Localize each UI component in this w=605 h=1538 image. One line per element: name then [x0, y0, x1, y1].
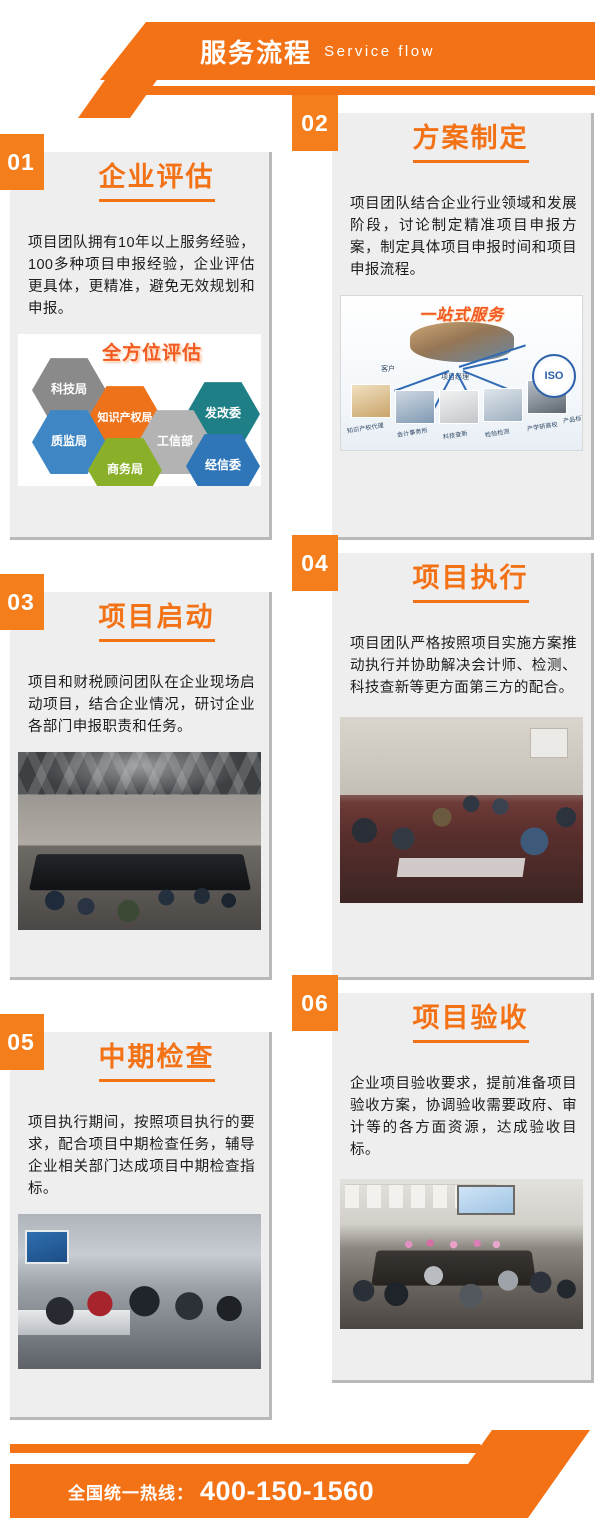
card-06-media	[340, 1179, 583, 1329]
card-03-badge: 03	[0, 574, 44, 630]
onestop-caption-5: 产学研高校	[526, 419, 558, 433]
hex-node-shangwu-label: 商务局	[107, 463, 143, 477]
onestop-iso-seal: ISO	[532, 354, 576, 398]
card-02-title-rule	[413, 160, 529, 163]
photo-working-meeting	[340, 717, 583, 903]
card-06[interactable]: 06 项目验收 企业项目验收要求，提前准备项目验收方案，协调验收需要政府、审计等…	[332, 993, 594, 1383]
onestop-caption-3: 科技查新	[442, 428, 468, 441]
card-02[interactable]: 02 方案制定 项目团队结合企业行业领域和发展阶段，讨论制定精准项目申报方案，制…	[332, 113, 594, 540]
card-01-head: 01 企业评估	[10, 152, 269, 226]
card-04-title: 项目执行	[413, 563, 529, 603]
card-02-media: 一站式服务 客户 项目经理 ISO 知识产权代理 会计事务所 科技查新	[340, 295, 583, 451]
hex-node-fagai-label: 发改委	[205, 407, 241, 421]
photo-documents	[397, 858, 526, 877]
hotline-phone[interactable]: 400-150-1560	[200, 1476, 374, 1507]
card-05-title-wrap: 中期检查	[10, 1042, 269, 1082]
onestop-caption-4: 检验检测	[484, 426, 510, 439]
card-04-head: 04 项目执行	[332, 553, 591, 627]
page-header: 服务流程 Service flow	[0, 0, 605, 110]
card-03-title: 项目启动	[99, 602, 215, 642]
hotline: 全国统一热线： 400-150-1560	[10, 1464, 595, 1518]
onestop-caption-2: 会计事务所	[396, 425, 428, 439]
page-title: 服务流程 Service flow	[0, 22, 595, 80]
onestop-node-2	[395, 390, 435, 424]
photo-boardroom	[340, 1179, 583, 1329]
card-05-title-text: 中期检查	[99, 1042, 215, 1072]
onestop-node-4	[483, 388, 523, 422]
onestop-node-3	[439, 390, 479, 424]
one-stop-service-graphic: 一站式服务 客户 项目经理 ISO 知识产权代理 会计事务所 科技查新	[340, 295, 583, 451]
card-03-media	[18, 752, 261, 930]
hex-node-zhishi-label: 知识产权局	[98, 412, 153, 425]
hex-node-zhijian-label: 质监局	[51, 435, 87, 449]
card-05-title: 中期检查	[99, 1042, 215, 1082]
onestop-label-customer: 客户	[381, 364, 395, 374]
card-04-media	[340, 717, 583, 903]
photo-people	[345, 1242, 578, 1326]
card-05-badge: 05	[0, 1014, 44, 1070]
hex-node-jingxin-label: 经信委	[205, 459, 241, 473]
hex-node-keji-label: 科技局	[51, 383, 87, 397]
card-05-head: 05 中期检查	[10, 1032, 269, 1106]
hotline-label: 全国统一热线：	[68, 1479, 194, 1504]
card-02-title-wrap: 方案制定	[332, 123, 591, 163]
photo-people	[340, 769, 583, 903]
card-01-title-rule	[99, 199, 215, 202]
card-01-title: 企业评估	[99, 162, 215, 202]
hex-graphic-title: 全方位评估	[102, 338, 202, 365]
photo-people	[33, 1248, 257, 1369]
card-03-title-text: 项目启动	[99, 602, 215, 632]
card-04-body: 项目团队严格按照项目实施方案推动执行并协助解决会计师、检测、科技查新等更方面第三…	[332, 627, 591, 713]
card-05-media	[18, 1214, 261, 1369]
card-03[interactable]: 03 项目启动 项目和财税顾问团队在企业现场启动项目，结合企业情况，研讨企业各部…	[10, 592, 272, 980]
card-04-badge: 04	[292, 535, 338, 591]
onestop-node-1	[351, 384, 391, 418]
service-flow-poster: 服务流程 Service flow 01 企业评估 项目团队拥有10年以上服务经…	[0, 0, 605, 1538]
card-02-head: 02 方案制定	[332, 113, 591, 187]
onestop-caption-1: 知识产权代理	[346, 420, 384, 435]
photo-window-unit	[530, 728, 569, 758]
hex-node-gongxin-label: 工信部	[157, 435, 193, 449]
header-underbar	[0, 86, 595, 95]
page-title-cn: 服务流程	[200, 33, 312, 70]
card-02-badge: 02	[292, 95, 338, 151]
card-01-title-text: 企业评估	[99, 162, 215, 192]
card-04-title-wrap: 项目执行	[332, 563, 591, 603]
onestop-hub-photo	[410, 322, 514, 362]
photo-ceiling-pattern	[18, 752, 261, 795]
card-01-media: 全方位评估 科技局 知识产权局 发改委 质监局 工信部 商务局 经信委	[18, 334, 261, 486]
card-01-body: 项目团队拥有10年以上服务经验，100多种项目申报经验，企业评估更具体，更精准，…	[10, 226, 269, 334]
page-footer: 全国统一热线： 400-150-1560	[0, 1408, 605, 1538]
card-04-title-text: 项目执行	[413, 563, 529, 593]
card-04-title-rule	[413, 600, 529, 603]
card-05[interactable]: 05 中期检查 项目执行期间，按照项目执行的要求，配合项目中期检查任务，辅导企业…	[10, 1032, 272, 1420]
card-06-title-text: 项目验收	[413, 1003, 529, 1033]
card-02-title: 方案制定	[413, 123, 529, 163]
card-02-title-text: 方案制定	[413, 123, 529, 153]
page-title-en: Service flow	[324, 43, 435, 60]
card-06-title: 项目验收	[413, 1003, 529, 1043]
card-04[interactable]: 04 项目执行 项目团队严格按照项目实施方案推动执行并协助解决会计师、检测、科技…	[332, 553, 594, 980]
hex-assessment-graphic: 全方位评估 科技局 知识产权局 发改委 质监局 工信部 商务局 经信委	[18, 334, 261, 486]
card-02-body: 项目团队结合企业行业领域和发展阶段，讨论制定精准项目申报方案，制定具体项目申报时…	[332, 187, 591, 295]
photo-people	[28, 848, 252, 923]
card-01-badge: 01	[0, 134, 44, 190]
card-06-badge: 06	[292, 975, 338, 1031]
card-03-title-wrap: 项目启动	[10, 602, 269, 642]
photo-expo-booth	[18, 1214, 261, 1369]
onestop-label-manager: 项目经理	[441, 372, 469, 382]
card-01-title-wrap: 企业评估	[10, 162, 269, 202]
card-03-head: 03 项目启动	[10, 592, 269, 666]
card-06-head: 06 项目验收	[332, 993, 591, 1067]
card-05-title-rule	[99, 1079, 215, 1082]
card-01[interactable]: 01 企业评估 项目团队拥有10年以上服务经验，100多种项目申报经验，企业评估…	[10, 152, 272, 540]
photo-conference-room	[18, 752, 261, 930]
card-03-body: 项目和财税顾问团队在企业现场启动项目，结合企业情况，研讨企业各部门申报职责和任务…	[10, 666, 269, 752]
photo-tv-screen	[457, 1185, 515, 1215]
card-06-body: 企业项目验收要求，提前准备项目验收方案，协调验收需要政府、审计等的各方面资源，达…	[332, 1067, 591, 1175]
card-06-title-rule	[413, 1040, 529, 1043]
card-06-title-wrap: 项目验收	[332, 1003, 591, 1043]
card-05-body: 项目执行期间，按照项目执行的要求，配合项目中期检查任务，辅导企业相关部门达成项目…	[10, 1106, 269, 1214]
card-03-title-rule	[99, 639, 215, 642]
